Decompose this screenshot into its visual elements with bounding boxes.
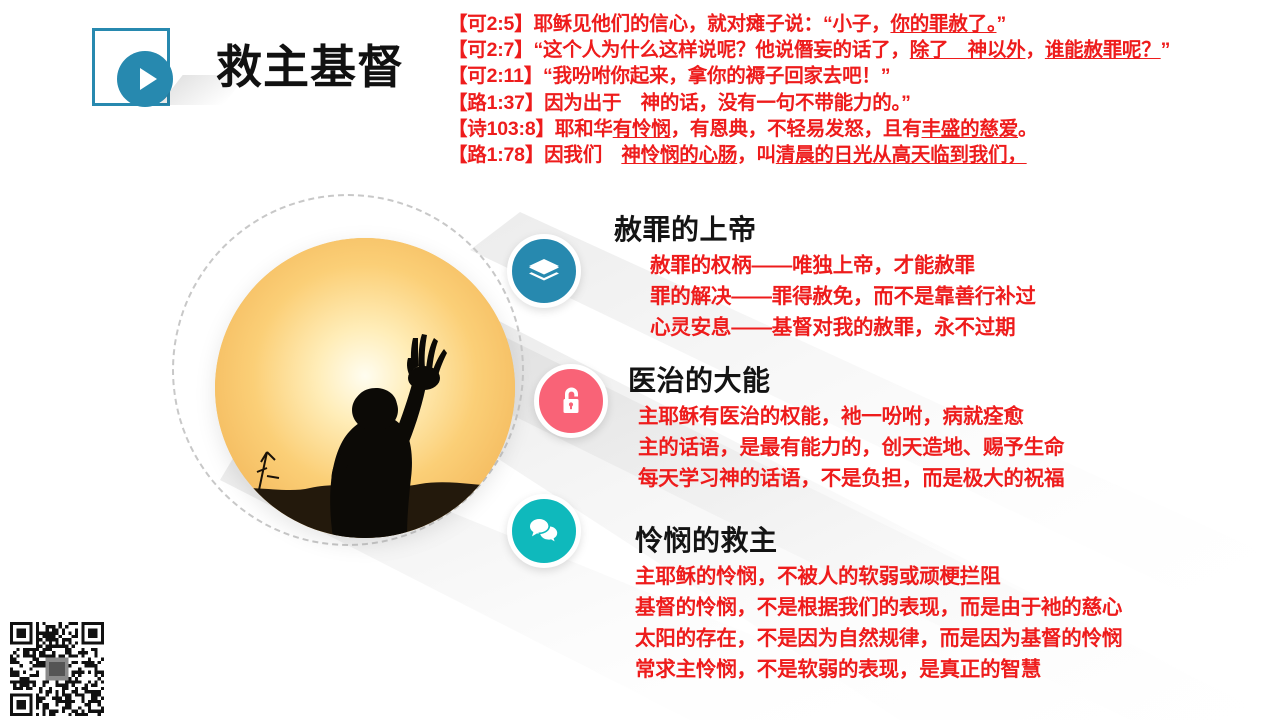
scripture-emphasis: 丰盛的慈爱 — [922, 118, 1019, 140]
bullet-line: 主耶稣有医治的权能，衪一吩咐，病就痊愈 — [638, 401, 1064, 432]
chat-bubbles-icon[interactable] — [507, 494, 581, 568]
bullet-line: 常求主怜悯，不是软弱的表现，是真正的智慧 — [635, 654, 1122, 685]
scripture-emphasis: 清晨的日光从高天临到我们， — [776, 144, 1027, 166]
bullet-line: 主耶稣的怜悯，不被人的软弱或顽梗拦阻 — [635, 561, 1122, 592]
scripture-text: 【路1:37】因为出于 神的话，没有一句不带能力的。” — [448, 92, 911, 114]
scripture-line: 【路1:37】因为出于 神的话，没有一句不带能力的。” — [448, 90, 1276, 116]
logo-frame — [92, 28, 170, 106]
bullet-line: 心灵安息——基督对我的赦罪，永不过期 — [650, 312, 1036, 343]
section-forgiving-god: 赦罪的上帝 赦罪的权柄——唯独上帝，才能赦罪 罪的解决——罪得赦免，而不是靠善行… — [614, 214, 1036, 343]
scripture-text: 【诗103:8】耶和华 — [448, 118, 613, 140]
section-bullets: 主耶稣的怜悯，不被人的软弱或顽梗拦阻 基督的怜悯，不是根据我们的表现，而是由于衪… — [635, 561, 1122, 685]
unlock-glyph — [554, 383, 588, 419]
bullet-line: 太阳的存在，不是因为自然规律，而是因为基督的怜悯 — [635, 623, 1122, 654]
scripture-text: 【路1:78】因我们 — [448, 144, 621, 166]
section-heading: 医治的大能 — [628, 365, 1064, 397]
page-title: 救主基督 — [216, 44, 404, 90]
unlock-icon[interactable] — [534, 364, 608, 438]
section-heading: 赦罪的上帝 — [614, 214, 1036, 246]
scripture-line: 【路1:78】因我们 神怜悯的心肠，叫清晨的日光从高天临到我们， — [448, 142, 1276, 168]
section-bullets: 赦罪的权柄——唯独上帝，才能赦罪 罪的解决——罪得赦免，而不是靠善行补过 心灵安… — [614, 250, 1036, 343]
scripture-text: ，有恩典，不轻易发怒，且有 — [671, 118, 922, 140]
bullet-line: 赦罪的权柄——唯独上帝，才能赦罪 — [650, 250, 1036, 281]
scripture-line: 【诗103:8】耶和华有怜悯，有恩典，不轻易发怒，且有丰盛的慈爱。 — [448, 116, 1276, 142]
scripture-line: 【可2:11】“我吩咐你起来，拿你的褥子回家去吧！” — [448, 63, 1276, 89]
bullet-line: 罪的解决——罪得赦免，而不是靠善行补过 — [650, 281, 1036, 312]
man-praising-at-sunset-photo — [215, 238, 515, 538]
scripture-emphasis: 你的罪赦了。 — [890, 13, 996, 35]
section-healing-power: 医治的大能 主耶稣有医治的权能，衪一吩咐，病就痊愈 主的话语，是最有能力的，创天… — [628, 365, 1064, 494]
bullet-line: 基督的怜悯，不是根据我们的表现，而是由于衪的慈心 — [635, 592, 1122, 623]
slide-canvas: 救主基督 【可2:5】耶稣见他们的信心，就对瘫子说：“小子，你的罪赦了。”【可2… — [0, 0, 1280, 720]
qr-code-glyph — [10, 622, 104, 716]
chat-bubbles-glyph — [526, 515, 562, 547]
scripture-text: 【可2:11】“我吩咐你起来，拿你的褥子回家去吧！” — [448, 65, 890, 87]
scripture-text: ” — [997, 13, 1007, 35]
scripture-emphasis: 谁能赦罪呢？ — [1045, 39, 1161, 61]
scripture-text: 【可2:7】“这个人为什么这样说呢？他说僭妄的话了， — [448, 39, 910, 61]
section-merciful-savior: 怜悯的救主 主耶稣的怜悯，不被人的软弱或顽梗拦阻 基督的怜悯，不是根据我们的表现… — [635, 525, 1122, 685]
brand-logo-block: 救主基督 — [92, 28, 404, 106]
layers-glyph — [526, 253, 562, 289]
scripture-text: 【可2:5】耶稣见他们的信心，就对瘫子说：“小子， — [448, 13, 890, 35]
section-heading: 怜悯的救主 — [635, 525, 1122, 557]
scripture-text: ，叫 — [737, 144, 776, 166]
qr-code[interactable] — [10, 622, 104, 716]
scripture-text: 。 — [1018, 118, 1037, 140]
scripture-text: ” — [1161, 39, 1171, 61]
play-triangle-icon — [140, 68, 157, 90]
bullet-line: 主的话语，是最有能力的，创天造地、赐予生命 — [638, 432, 1064, 463]
section-bullets: 主耶稣有医治的权能，衪一吩咐，病就痊愈 主的话语，是最有能力的，创天造地、赐予生… — [628, 401, 1064, 494]
scripture-emphasis: 除了 神以外 — [910, 39, 1026, 61]
scripture-text: ， — [1026, 39, 1045, 61]
bullet-line: 每天学习神的话语，不是负担，而是极大的祝福 — [638, 463, 1064, 494]
scripture-block: 【可2:5】耶稣见他们的信心，就对瘫子说：“小子，你的罪赦了。”【可2:7】“这… — [448, 11, 1276, 168]
scripture-line: 【可2:7】“这个人为什么这样说呢？他说僭妄的话了，除了 神以外，谁能赦罪呢？” — [448, 37, 1276, 63]
layers-icon[interactable] — [507, 234, 581, 308]
scripture-emphasis: 有怜悯 — [613, 118, 671, 140]
scripture-emphasis: 神怜悯的心肠 — [621, 144, 737, 166]
photo-illustration — [215, 238, 515, 538]
scripture-line: 【可2:5】耶稣见他们的信心，就对瘫子说：“小子，你的罪赦了。” — [448, 11, 1276, 37]
